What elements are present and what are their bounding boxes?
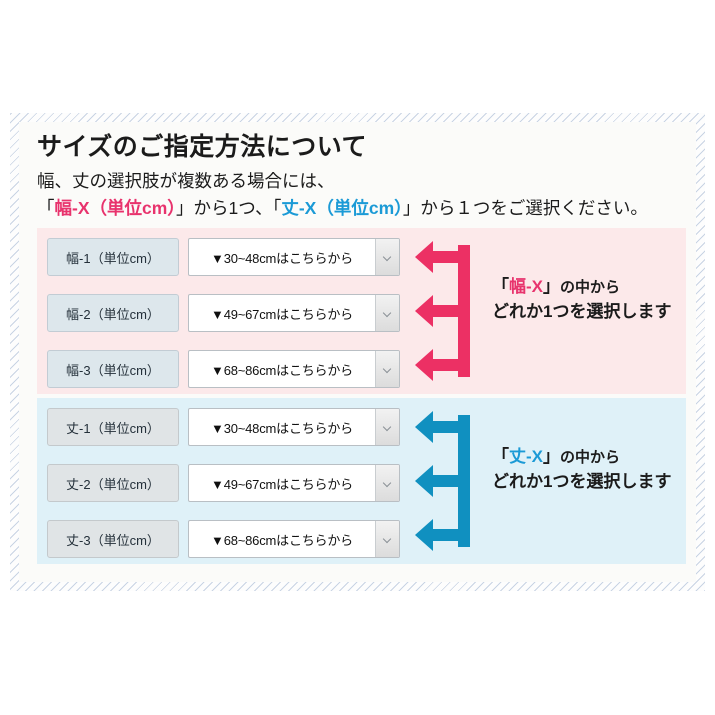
length-caption-open-bracket: 「	[492, 447, 509, 466]
width-caption-highlight: 幅-X	[509, 277, 543, 296]
length-caption-tail: の中から	[560, 449, 620, 466]
width-row-2-label: 幅-2（単位cm）	[47, 294, 179, 332]
width-row-3: 幅-3（単位cm） ▼68~86cmはこちらから	[47, 350, 407, 388]
width-row-1-label: 幅-1（単位cm）	[47, 238, 179, 276]
width-row-2: 幅-2（単位cm） ▼49~67cmはこちらから	[47, 294, 407, 332]
length-select-3-value: ▼68~86cmはこちらから	[189, 521, 375, 557]
width-select-3[interactable]: ▼68~86cmはこちらから	[188, 350, 400, 388]
length-caption-line-1: 「丈-X」の中から	[492, 444, 682, 469]
length-select-1-value: ▼30~48cmはこちらから	[189, 409, 375, 445]
chevron-down-icon	[383, 423, 392, 432]
length-caption-highlight: 丈-X	[509, 447, 543, 466]
width-row-1: 幅-1（単位cm） ▼30~48cmはこちらから	[47, 238, 407, 276]
length-select-2[interactable]: ▼49~67cmはこちらから	[188, 464, 400, 502]
width-caption-open-bracket: 「	[492, 277, 509, 296]
width-select-3-value: ▼68~86cmはこちらから	[189, 351, 375, 387]
width-group-section: 幅-1（単位cm） ▼30~48cmはこちらから 幅-2（単位cm） ▼49~6…	[37, 228, 686, 394]
width-select-1-value: ▼30~48cmはこちらから	[189, 239, 375, 275]
width-select-1[interactable]: ▼30~48cmはこちらから	[188, 238, 400, 276]
striped-border-frame: サイズのご指定方法について 幅、丈の選択肢が複数ある場合には、 「幅-X（単位c…	[10, 113, 705, 591]
length-row-3: 丈-3（単位cm） ▼68~86cmはこちらから	[47, 520, 407, 558]
heading-block: サイズのご指定方法について 幅、丈の選択肢が複数ある場合には、 「幅-X（単位c…	[37, 132, 686, 221]
length-select-3-dropdown-button[interactable]	[375, 521, 399, 557]
length-select-3[interactable]: ▼68~86cmはこちらから	[188, 520, 400, 558]
subtitle-width-token: 幅-X（単位cm）	[55, 198, 177, 218]
length-row-1-label: 丈-1（単位cm）	[47, 408, 179, 446]
chevron-down-icon	[383, 365, 392, 374]
width-caption-line-1: 「幅-X」の中から	[492, 274, 682, 299]
width-select-2[interactable]: ▼49~67cmはこちらから	[188, 294, 400, 332]
length-group-section: 丈-1（単位cm） ▼30~48cmはこちらから 丈-2（単位cm） ▼49~6…	[37, 398, 686, 564]
width-row-3-label: 幅-3（単位cm）	[47, 350, 179, 388]
subtitle-line-1: 幅、丈の選択肢が複数ある場合には、	[37, 168, 686, 195]
length-rows-column: 丈-1（単位cm） ▼30~48cmはこちらから 丈-2（単位cm） ▼49~6…	[47, 398, 407, 564]
subtitle-line-2: 「幅-X（単位cm）」から1つ、「丈-X（単位cm）」から１つをご選択ください。	[37, 195, 686, 222]
width-select-1-dropdown-button[interactable]	[375, 239, 399, 275]
subtitle-middle-text: 」から1つ、「	[176, 198, 281, 218]
length-caption-close-bracket: 」	[543, 447, 560, 466]
subtitle-length-token: 丈-X（単位cm）	[281, 198, 403, 218]
page-title: サイズのご指定方法について	[37, 132, 686, 162]
length-row-1: 丈-1（単位cm） ▼30~48cmはこちらから	[47, 408, 407, 446]
width-caption-line-2: どれか1つを選択します	[492, 299, 682, 324]
length-select-1[interactable]: ▼30~48cmはこちらから	[188, 408, 400, 446]
width-select-2-dropdown-button[interactable]	[375, 295, 399, 331]
length-select-1-dropdown-button[interactable]	[375, 409, 399, 445]
subtitle-close-text: 」から１つをご選択ください。	[403, 198, 648, 218]
triple-left-arrow-bracket-icon	[415, 410, 477, 552]
length-row-2-label: 丈-2（単位cm）	[47, 464, 179, 502]
width-caption-tail: の中から	[560, 279, 620, 296]
length-select-2-value: ▼49~67cmはこちらから	[189, 465, 375, 501]
width-caption: 「幅-X」の中から どれか1つを選択します	[492, 274, 682, 324]
width-select-3-dropdown-button[interactable]	[375, 351, 399, 387]
length-caption-line-2: どれか1つを選択します	[492, 469, 682, 494]
length-caption: 「丈-X」の中から どれか1つを選択します	[492, 444, 682, 494]
chevron-down-icon	[383, 309, 392, 318]
length-row-2: 丈-2（単位cm） ▼49~67cmはこちらから	[47, 464, 407, 502]
instruction-panel: サイズのご指定方法について 幅、丈の選択肢が複数ある場合には、 「幅-X（単位c…	[19, 122, 696, 582]
length-select-2-dropdown-button[interactable]	[375, 465, 399, 501]
length-row-3-label: 丈-3（単位cm）	[47, 520, 179, 558]
chevron-down-icon	[383, 479, 392, 488]
width-select-2-value: ▼49~67cmはこちらから	[189, 295, 375, 331]
width-caption-close-bracket: 」	[543, 277, 560, 296]
chevron-down-icon	[383, 535, 392, 544]
chevron-down-icon	[383, 253, 392, 262]
width-rows-column: 幅-1（単位cm） ▼30~48cmはこちらから 幅-2（単位cm） ▼49~6…	[47, 228, 407, 394]
subtitle-open-bracket: 「	[37, 198, 55, 218]
triple-left-arrow-bracket-icon	[415, 240, 477, 382]
